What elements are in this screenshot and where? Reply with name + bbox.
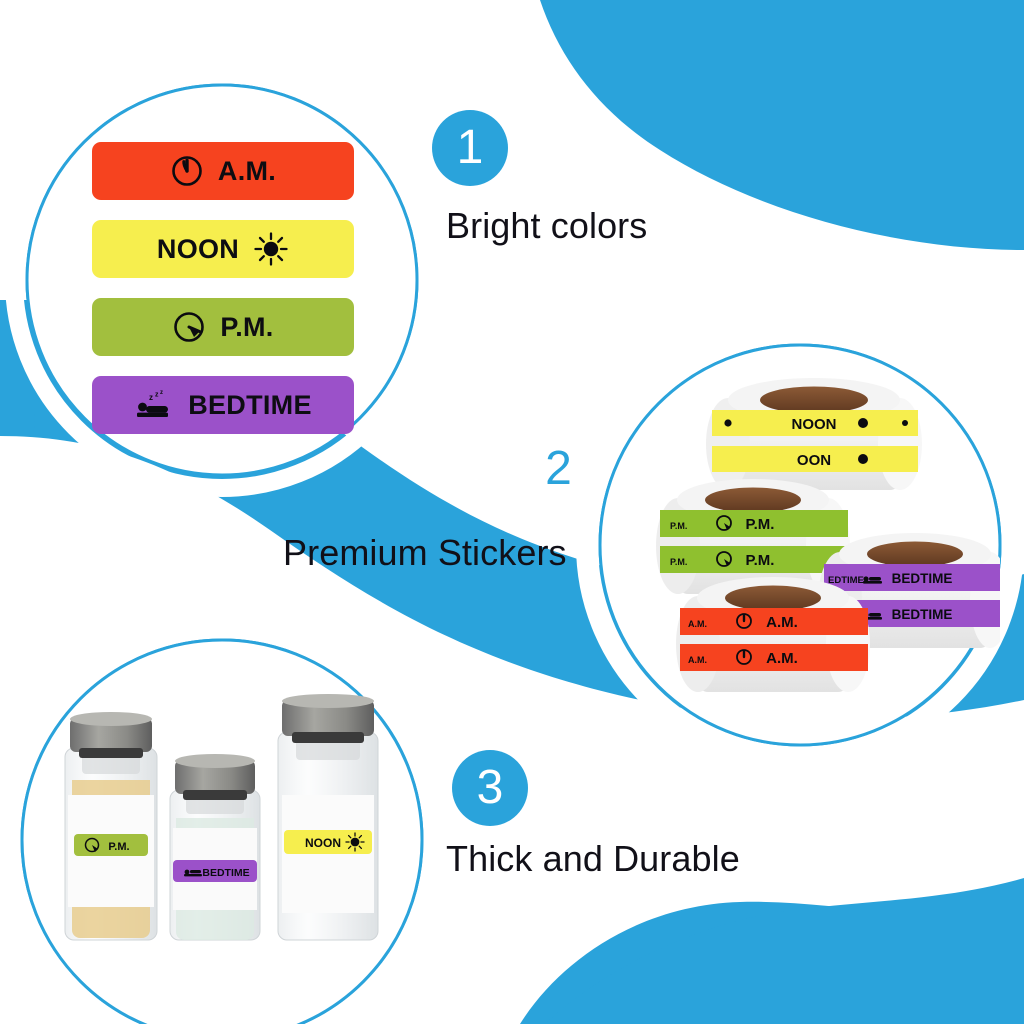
- svg-text:P.M.: P.M.: [746, 516, 775, 533]
- sticker-strip-noon-label: NOON: [157, 234, 239, 265]
- sticker-roll-am[interactable]: A.M. A.M. A.M. A.M.: [676, 577, 870, 692]
- sticker-roll-noon[interactable]: NOON OON: [706, 378, 922, 490]
- svg-text:z: z: [149, 393, 153, 402]
- step-title-3: Thick and Durable: [446, 838, 740, 880]
- svg-text:NOON: NOON: [792, 416, 837, 433]
- clock-morning-icon: [170, 154, 204, 188]
- svg-text:z: z: [160, 390, 163, 396]
- svg-text:A.M.: A.M.: [688, 619, 707, 629]
- sticker-strip-bedtime[interactable]: z z z BEDTIME: [92, 376, 354, 434]
- step-badge-3[interactable]: 3: [452, 750, 528, 826]
- sticker-strip-pm[interactable]: P.M.: [92, 298, 354, 356]
- svg-text:P.M.: P.M.: [670, 521, 687, 531]
- svg-text:P.M.: P.M.: [108, 841, 129, 853]
- sticker-strip-am[interactable]: A.M.: [92, 142, 354, 200]
- svg-text:EDTIME: EDTIME: [828, 575, 864, 586]
- sticker-strip-group: A.M. NOON: [92, 142, 354, 434]
- sticker-strip-noon[interactable]: NOON: [92, 220, 354, 278]
- svg-text:BEDTIME: BEDTIME: [892, 571, 953, 586]
- vial-bedtime[interactable]: BEDTIME: [170, 754, 260, 940]
- step-badge-3-number: 3: [477, 764, 504, 812]
- svg-text:z: z: [155, 392, 159, 399]
- vial-group: P.M. BEDTIME NOON: [30, 690, 420, 955]
- step-title-2: Premium Stickers: [283, 532, 567, 574]
- step-title-1: Bright colors: [446, 205, 647, 247]
- svg-text:OON: OON: [797, 452, 831, 469]
- svg-text:NOON: NOON: [305, 836, 341, 850]
- infographic-canvas: A.M. NOON: [0, 0, 1024, 1024]
- step-badge-1[interactable]: 1: [432, 110, 508, 186]
- sticker-strip-bedtime-label: BEDTIME: [188, 390, 312, 421]
- step-badge-2-number: 2: [545, 445, 572, 493]
- bed-sleep-icon: z z z: [134, 389, 174, 421]
- svg-text:P.M.: P.M.: [670, 557, 687, 567]
- svg-text:BEDTIME: BEDTIME: [202, 867, 249, 879]
- svg-text:BEDTIME: BEDTIME: [892, 607, 953, 622]
- step-badge-1-number: 1: [457, 124, 484, 172]
- sticker-roll-group: NOON OON P.M. P.M. P.M. P.M.: [600, 370, 1000, 700]
- sticker-strip-pm-label: P.M.: [220, 312, 273, 343]
- sun-icon: [253, 231, 289, 267]
- clock-afternoon-icon: [172, 310, 206, 344]
- vial-noon[interactable]: NOON: [278, 694, 378, 940]
- vial-pm[interactable]: P.M.: [65, 712, 157, 940]
- svg-text:A.M.: A.M.: [688, 655, 707, 665]
- svg-text:A.M.: A.M.: [766, 650, 798, 667]
- svg-text:P.M.: P.M.: [746, 552, 775, 569]
- step-badge-2[interactable]: 2: [520, 430, 597, 507]
- svg-text:A.M.: A.M.: [766, 614, 798, 631]
- sticker-strip-am-label: A.M.: [218, 156, 276, 187]
